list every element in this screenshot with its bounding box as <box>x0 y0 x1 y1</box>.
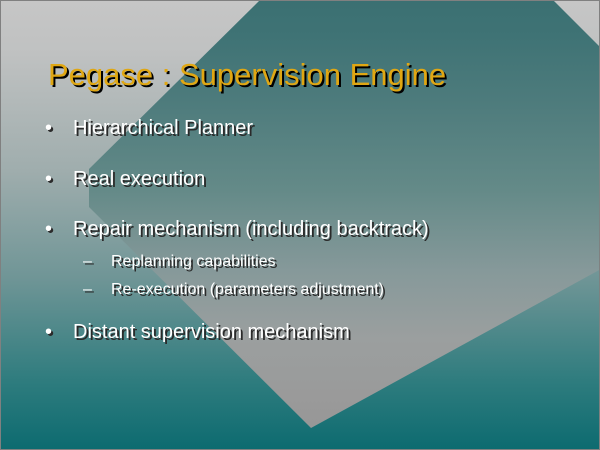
slide-content: Pegase : Supervision Engine • Hierarchic… <box>1 1 600 450</box>
bullet-list: • Hierarchical Planner • Real execution … <box>41 117 571 344</box>
list-item-label: Real execution <box>73 168 205 190</box>
bullet-marker-icon: • <box>45 218 52 241</box>
list-item-label: Distant supervision mechanism <box>73 321 350 343</box>
bullet-marker-icon: • <box>45 168 52 191</box>
list-item: • Repair mechanism (including backtrack) <box>41 218 571 241</box>
spacer <box>41 299 571 321</box>
spacer <box>41 191 571 218</box>
spacer <box>41 271 571 281</box>
list-item: • Hierarchical Planner <box>41 117 571 140</box>
presentation-slide: Pegase : Supervision Engine • Hierarchic… <box>0 0 600 450</box>
list-item-label: Hierarchical Planner <box>73 117 253 139</box>
sub-list-item-label: Replanning capabilities <box>111 253 276 270</box>
list-item-label: Repair mechanism (including backtrack) <box>73 218 429 240</box>
sub-list-item: – Replanning capabilities <box>41 253 571 271</box>
bullet-marker-icon: • <box>45 117 52 140</box>
spacer <box>41 140 571 168</box>
list-item: • Distant supervision mechanism <box>41 321 571 344</box>
dash-marker-icon: – <box>83 281 92 299</box>
list-item: • Real execution <box>41 168 571 191</box>
dash-marker-icon: – <box>83 253 92 271</box>
spacer <box>41 241 571 253</box>
sub-list-item: – Re-execution (parameters adjustment) <box>41 281 571 299</box>
slide-title: Pegase : Supervision Engine <box>48 57 446 93</box>
sub-list-item-label: Re-execution (parameters adjustment) <box>111 281 384 298</box>
bullet-marker-icon: • <box>45 321 52 344</box>
